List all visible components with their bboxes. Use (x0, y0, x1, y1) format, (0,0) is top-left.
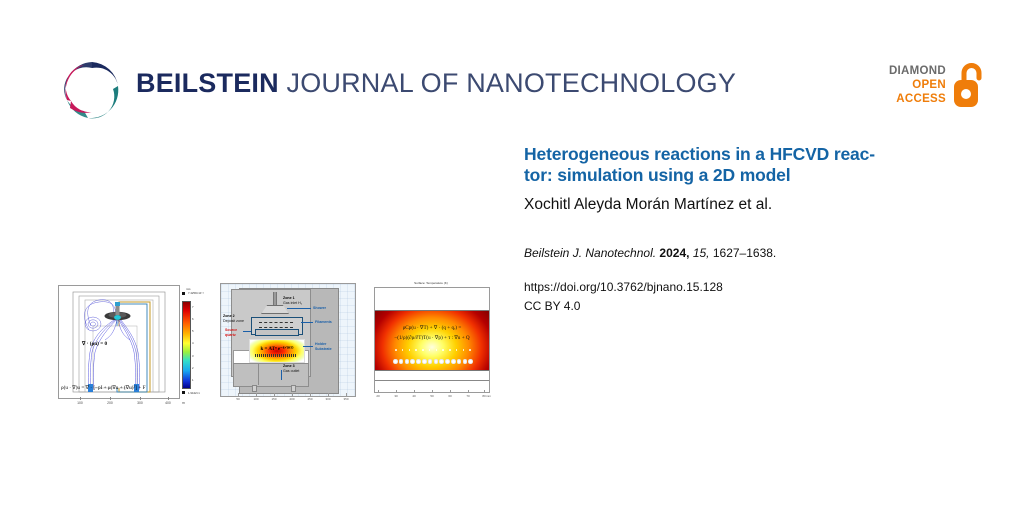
colorbar-tick-6: 1 (192, 378, 194, 382)
colorbar-max-marker (182, 292, 185, 295)
citation-year: 2024 (659, 246, 686, 260)
leader-shower (287, 308, 311, 309)
panel3-lower-divider (375, 380, 489, 381)
reactor-lower-divider (258, 363, 259, 385)
panel1-equation-continuity: ∇ · (ρu) = 0 (82, 341, 107, 347)
colorbar-tick-2: 5 (192, 329, 194, 333)
panel2-xtick-2: 150 (271, 397, 276, 401)
label-substrate: Substrate (315, 347, 332, 351)
label-zone1-sub: Gas inlet H₂ (283, 301, 302, 305)
leader-filaments (301, 322, 313, 323)
colorbar-tick-4: 3 (192, 354, 194, 358)
panel3-x-unit: mm (486, 394, 491, 398)
article-doi[interactable]: https://doi.org/10.3762/bjnano.15.128 (524, 279, 994, 296)
panel3-xtick-0: 20 (376, 394, 379, 398)
panel3-title: Surface: Temperature (K) (368, 281, 494, 285)
label-holder: Holder (315, 342, 326, 346)
label-source-quartz-1: Source (225, 328, 237, 332)
oa-line-open: OPEN (872, 78, 946, 92)
panel2-xtick-3: 200 (289, 397, 294, 401)
panel3-xtick-5: 70 (466, 394, 469, 398)
citation-journal: Beilstein J. Nanotechnol. (524, 246, 656, 260)
filament-line-1 (259, 322, 293, 323)
label-shower: Shower (313, 306, 326, 310)
colorbar-tick-3: 4 (192, 341, 194, 345)
article-info: Heterogeneous reactions in a HFCVD reac-… (524, 144, 994, 315)
citation-comma-2: , (706, 246, 709, 260)
panel2-xtick-0: 50 (236, 397, 239, 401)
wordmark-journal: JOURNAL OF NANOTECHNOLOGY (279, 68, 736, 98)
colorbar-tick-5: 2 (192, 366, 194, 370)
panel3-equation-energy: ρCp(u · ∇T) + ∇ · (q + qᵣ) = −(1/ρ)(∂ρ/∂… (381, 323, 483, 343)
filament-dots-upper-row (395, 349, 471, 352)
open-padlock-icon (952, 62, 988, 110)
page-header: BEILSTEIN JOURNAL OF NANOTECHNOLOGY DIAM… (0, 0, 1024, 130)
panel3-equation-energy-line1: ρCp(u · ∇T) + ∇ · (q + qᵣ) = (381, 323, 483, 333)
filament-support-bar (255, 329, 299, 336)
article-title-line1: Heterogeneous reactions in a HFCVD reac- (524, 144, 875, 164)
panel3-xtick-1: 30 (394, 394, 397, 398)
gas-inlet-stem (273, 292, 277, 306)
panel2-xtick-4: 250 (307, 397, 312, 401)
citation-volume: 15 (693, 246, 706, 260)
panel2-xtick-1: 100 (253, 397, 258, 401)
panel2-x-axis: 50 100 150 200 250 300 350 (220, 396, 354, 404)
citation-comma-1: , (686, 246, 689, 260)
panel2-plot-frame: k = ATⁿ e⁻ᴱᐟ⁽ᴿᵀ⁾ Zone 1 Gas inlet H₂ Sho… (220, 283, 356, 397)
panel3-plot-frame: ρCp(u · ∇T) + ∇ · (q + qᵣ) = −(1/ρ)(∂ρ/∂… (374, 287, 490, 393)
substrate-holder (255, 354, 297, 357)
colorbar-max-label: 7.4259×10⁻² (188, 292, 204, 295)
article-citation: Beilstein J. Nanotechnol. 2024, 15, 1627… (524, 245, 994, 262)
wordmark-beilstein: BEILSTEIN (136, 68, 279, 98)
panel3-upper-region (375, 288, 489, 311)
panel1-streamlines (59, 286, 179, 398)
figure-panel-temperature-map: Surface: Temperature (K) ρCp(u · ∇T) + ∇… (368, 281, 494, 413)
panel1-xtick-1: 200 (107, 401, 113, 405)
diamond-open-access-badge: DIAMOND OPEN ACCESS (872, 60, 990, 120)
panel3-xtick-4: 60 (448, 394, 451, 398)
panel3-x-axis: 20 30 40 50 60 70 80 (374, 393, 488, 401)
panel1-colorbar: m/s 7.4259×10⁻² 7 6 5 4 3 2 1 1.9442×1 (180, 287, 210, 399)
leader-source-quartz (243, 331, 251, 332)
panel1-xtick-3: 400 (165, 401, 171, 405)
label-filaments: Filaments (315, 320, 332, 324)
panel3-xtick-3: 50 (430, 394, 433, 398)
filament-line-2 (259, 327, 293, 328)
leader-gas-outlet (281, 370, 282, 380)
colorbar-tick-0: 7 (192, 305, 194, 309)
colorbar-tick-labels: 7 6 5 4 3 2 1 (190, 301, 208, 387)
label-zone2-sub: Deposit zone (223, 319, 244, 323)
panel3-xtick-2: 40 (412, 394, 415, 398)
label-zone3: Zone 3 (283, 364, 295, 368)
panel2-equation-arrhenius: k = ATⁿ e⁻ᴱᐟ⁽ᴿᵀ⁾ (252, 346, 302, 352)
panel1-x-axis: 100 200 300 400 (58, 401, 178, 411)
article-title: Heterogeneous reactions in a HFCVD reac-… (524, 144, 994, 186)
oa-line-access: ACCESS (872, 92, 946, 106)
colorbar-tick-1: 6 (192, 317, 194, 321)
journal-wordmark: BEILSTEIN JOURNAL OF NANOTECHNOLOGY (136, 68, 736, 99)
article-title-line2: tor: simulation using a 2D model (524, 165, 790, 185)
beilstein-circles-logo (58, 56, 126, 124)
gas-outlet-port-right (291, 385, 296, 392)
label-zone2: Zone 2 (223, 314, 235, 318)
colorbar-min-marker (182, 391, 185, 394)
panel2-xtick-5: 300 (325, 397, 330, 401)
article-authors: Xochitl Aleyda Morán Martínez et al. (524, 195, 994, 215)
label-zone3-sub: Gas outlet (283, 369, 299, 373)
label-zone1: Zone 1 (283, 296, 295, 300)
oa-line-diamond: DIAMOND (872, 64, 946, 78)
leader-holder (303, 346, 313, 347)
panel1-xtick-2: 300 (137, 401, 143, 405)
panel1-equation-momentum: ρ(u · ∇)u = ∇ · [−pI + μ(∇u + (∇u)ᵀ] + F (61, 385, 145, 391)
panel1-x-unit: m (182, 401, 185, 405)
figure-strip: ∇ · (ρu) = 0 ρ(u · ∇)u = ∇ · [−pI + μ(∇u… (0, 138, 512, 278)
figure-panel-reactor-schematic: k = ATⁿ e⁻ᴱᐟ⁽ᴿᵀ⁾ Zone 1 Gas inlet H₂ Sho… (218, 281, 358, 413)
panel1-plot-frame (58, 285, 180, 399)
citation-pages: 1627–1638. (713, 246, 776, 260)
label-source-quartz-2: quartz (225, 333, 236, 337)
panel2-xtick-6: 350 (343, 397, 348, 401)
gas-outlet-port-left (252, 385, 257, 392)
panel1-xtick-0: 100 (77, 401, 83, 405)
colorbar-min-label: 1.9442×1 (188, 391, 200, 395)
panel3-equation-energy-line2: −(1/ρ)(∂ρ/∂T)T(u · ∇p) + τ : ∇u + Q (381, 333, 483, 343)
article-license: CC BY 4.0 (524, 298, 994, 315)
filament-dots-lower-row (393, 359, 473, 363)
figure-panel-velocity-streamlines: ∇ · (ρu) = 0 ρ(u · ∇)u = ∇ · [−pI + μ(∇u… (52, 281, 212, 413)
journal-cover-page: BEILSTEIN JOURNAL OF NANOTECHNOLOGY DIAM… (0, 0, 1024, 512)
reactor-lower-chamber (233, 363, 309, 387)
